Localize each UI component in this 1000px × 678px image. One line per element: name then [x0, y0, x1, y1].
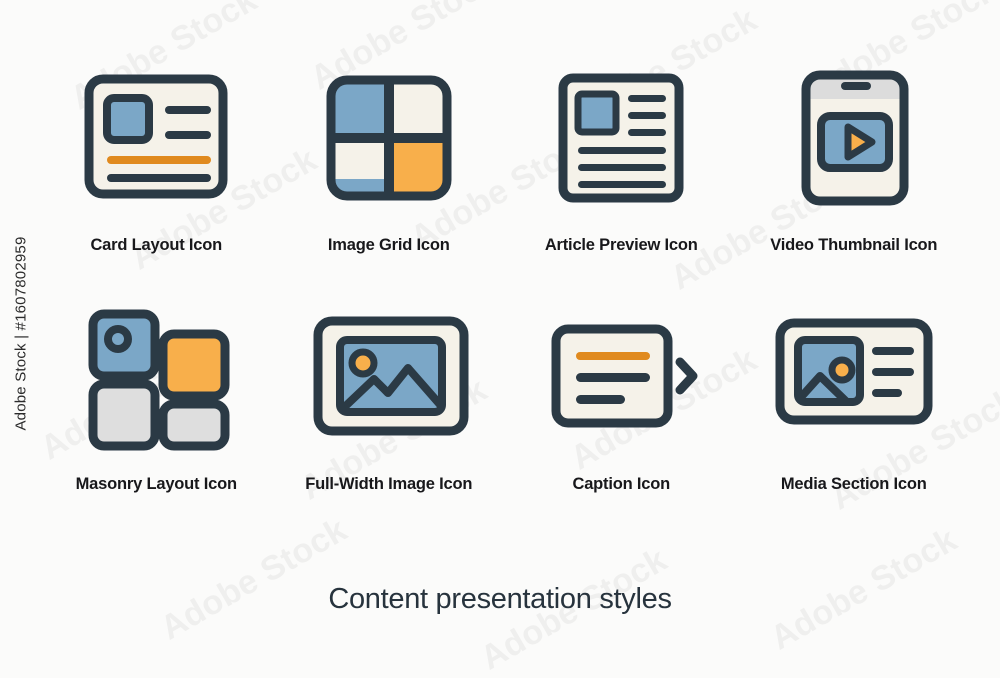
icon-label: Video Thumbnail Icon — [770, 236, 937, 255]
icon-label: Full-Width Image Icon — [305, 475, 472, 494]
icon-grid: Card Layout Icon — [40, 56, 970, 494]
icon-label: Image Grid Icon — [328, 236, 450, 255]
watermark-vertical-text: Adobe Stock | #1607802959 — [13, 236, 30, 430]
caption-icon — [536, 295, 706, 465]
full-width-image-icon — [304, 295, 474, 465]
page-title: Content presentation styles — [0, 583, 1000, 616]
icon-label: Masonry Layout Icon — [76, 475, 237, 494]
icon-label: Media Section Icon — [781, 475, 927, 494]
icon-card-media-section: Media Section Icon — [738, 295, 971, 494]
watermark-tile: Adobe Stock — [154, 511, 353, 649]
icon-label: Article Preview Icon — [545, 236, 698, 255]
icon-label: Caption Icon — [572, 475, 670, 494]
icon-card-article-preview: Article Preview Icon — [505, 56, 738, 255]
icon-card-video-thumbnail: Video Thumbnail Icon — [738, 56, 971, 255]
card-layout-icon — [71, 56, 241, 226]
image-grid-icon — [304, 56, 474, 226]
icon-card-masonry-layout: Masonry Layout Icon — [40, 295, 273, 494]
icon-card-full-width-image: Full-Width Image Icon — [273, 295, 506, 494]
watermark-vertical: Adobe Stock | #1607802959 — [4, 0, 38, 667]
article-preview-icon — [536, 56, 706, 226]
icon-label: Card Layout Icon — [90, 236, 222, 255]
icon-sheet: Adobe Stock Adobe Stock Adobe Stock Adob… — [0, 0, 1000, 667]
video-thumbnail-icon — [769, 56, 939, 226]
media-section-icon — [769, 295, 939, 465]
icon-card-image-grid: Image Grid Icon — [273, 56, 506, 255]
icon-card-caption: Caption Icon — [505, 295, 738, 494]
masonry-layout-icon — [71, 295, 241, 465]
icon-card-card-layout: Card Layout Icon — [40, 56, 273, 255]
